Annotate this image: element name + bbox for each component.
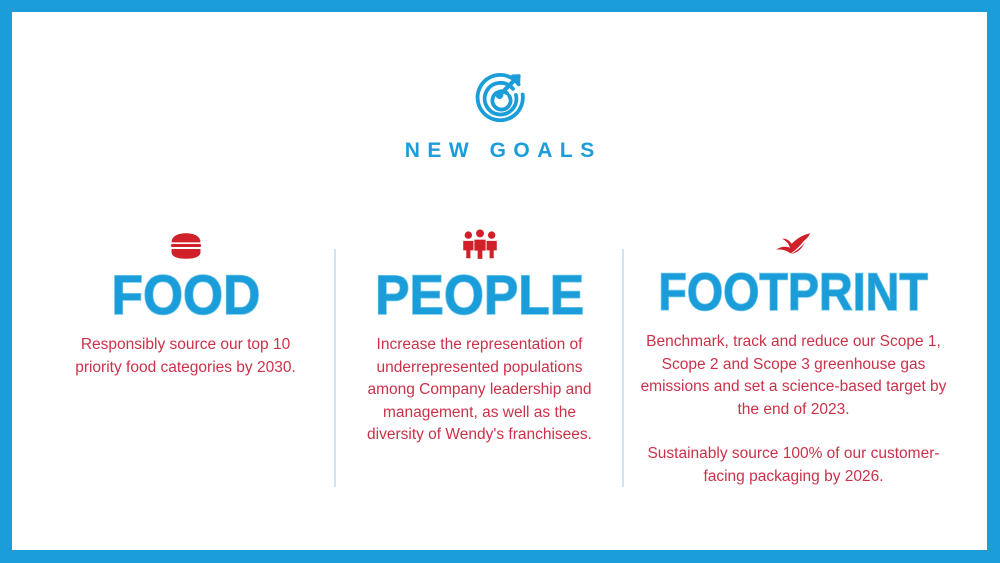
- target-arrow-icon: [471, 66, 529, 124]
- header: NEW GOALS: [12, 66, 987, 163]
- people-group-icon: [461, 227, 499, 261]
- column-heading-food: FOOD: [111, 266, 260, 323]
- column-heading-footprint: FOOTPRINT: [659, 266, 928, 320]
- page-title: NEW GOALS: [397, 139, 602, 163]
- slide-canvas: NEW GOALS FOOD Responsibly source our to…: [12, 12, 987, 550]
- goal-column-footprint: FOOTPRINT Benchmark, track and reduce ou…: [624, 227, 964, 488]
- column-body-people: Increase the representation of underrepr…: [364, 334, 596, 447]
- leaf-icon: [774, 227, 814, 261]
- column-body-footprint-1: Benchmark, track and reduce our Scope 1,…: [641, 331, 947, 421]
- goal-column-food: FOOD Responsibly source our top 10 prior…: [36, 227, 336, 379]
- goal-columns: FOOD Responsibly source our top 10 prior…: [12, 227, 987, 488]
- column-heading-people: PEOPLE: [375, 266, 584, 323]
- column-body-food: Responsibly source our top 10 priority f…: [61, 334, 311, 379]
- goal-column-people: PEOPLE Increase the representation of un…: [336, 227, 624, 447]
- slide-frame: NEW GOALS FOOD Responsibly source our to…: [0, 0, 1000, 563]
- column-body-footprint-2: Sustainably source 100% of our customer-…: [641, 443, 947, 488]
- hamburger-icon: [169, 227, 203, 261]
